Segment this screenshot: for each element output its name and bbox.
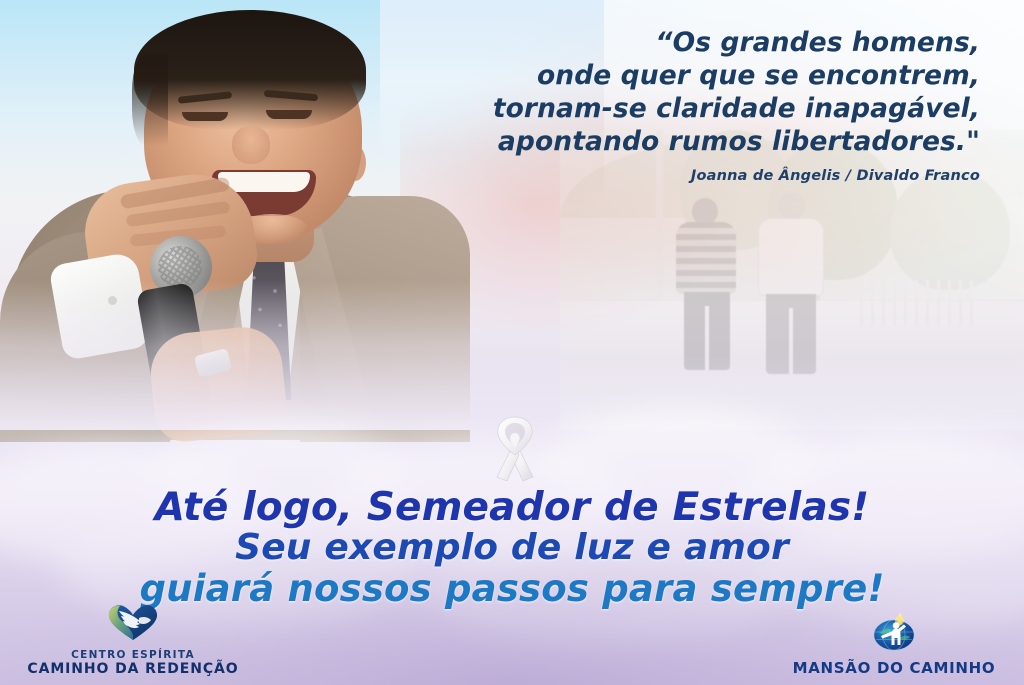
logo-centro-espirita: CENTRO ESPÍRITA CAMINHO DA REDENÇÃO (8, 602, 258, 677)
quote-text: “Os grandes homens, onde quer que se enc… (440, 26, 980, 158)
logo-centro-espirita-line1: CENTRO ESPÍRITA (8, 649, 258, 661)
quote-line-2: onde quer que se encontrem, (440, 59, 980, 92)
globe-figure-light-icon (774, 611, 1014, 657)
headline-block: Até logo, Semeador de Estrelas! Seu exem… (0, 487, 1024, 610)
logo-mansao-do-caminho-label: MANSÃO DO CAMINHO (774, 660, 1014, 677)
quote-attribution: Joanna de Ângelis / Divaldo Franco (440, 168, 980, 184)
portrait-divaldo-franco (0, 0, 470, 430)
memorial-poster: “Os grandes homens, onde quer que se enc… (0, 0, 1024, 685)
quote-line-3: tornam-se claridade inapagável, (440, 92, 980, 125)
memorial-ribbon-icon (489, 411, 541, 485)
heart-hands-icon (8, 602, 258, 646)
logo-mansao-do-caminho: MANSÃO DO CAMINHO (774, 611, 1014, 677)
quote-line-4: apontando rumos libertadores." (440, 125, 980, 158)
logo-centro-espirita-line2: CAMINHO DA REDENÇÃO (8, 661, 258, 677)
quote-line-1: “Os grandes homens, (440, 26, 980, 59)
headline-line-1: Até logo, Semeador de Estrelas! (0, 487, 1024, 528)
headline-line-2: Seu exemplo de luz e amor (0, 528, 1024, 568)
